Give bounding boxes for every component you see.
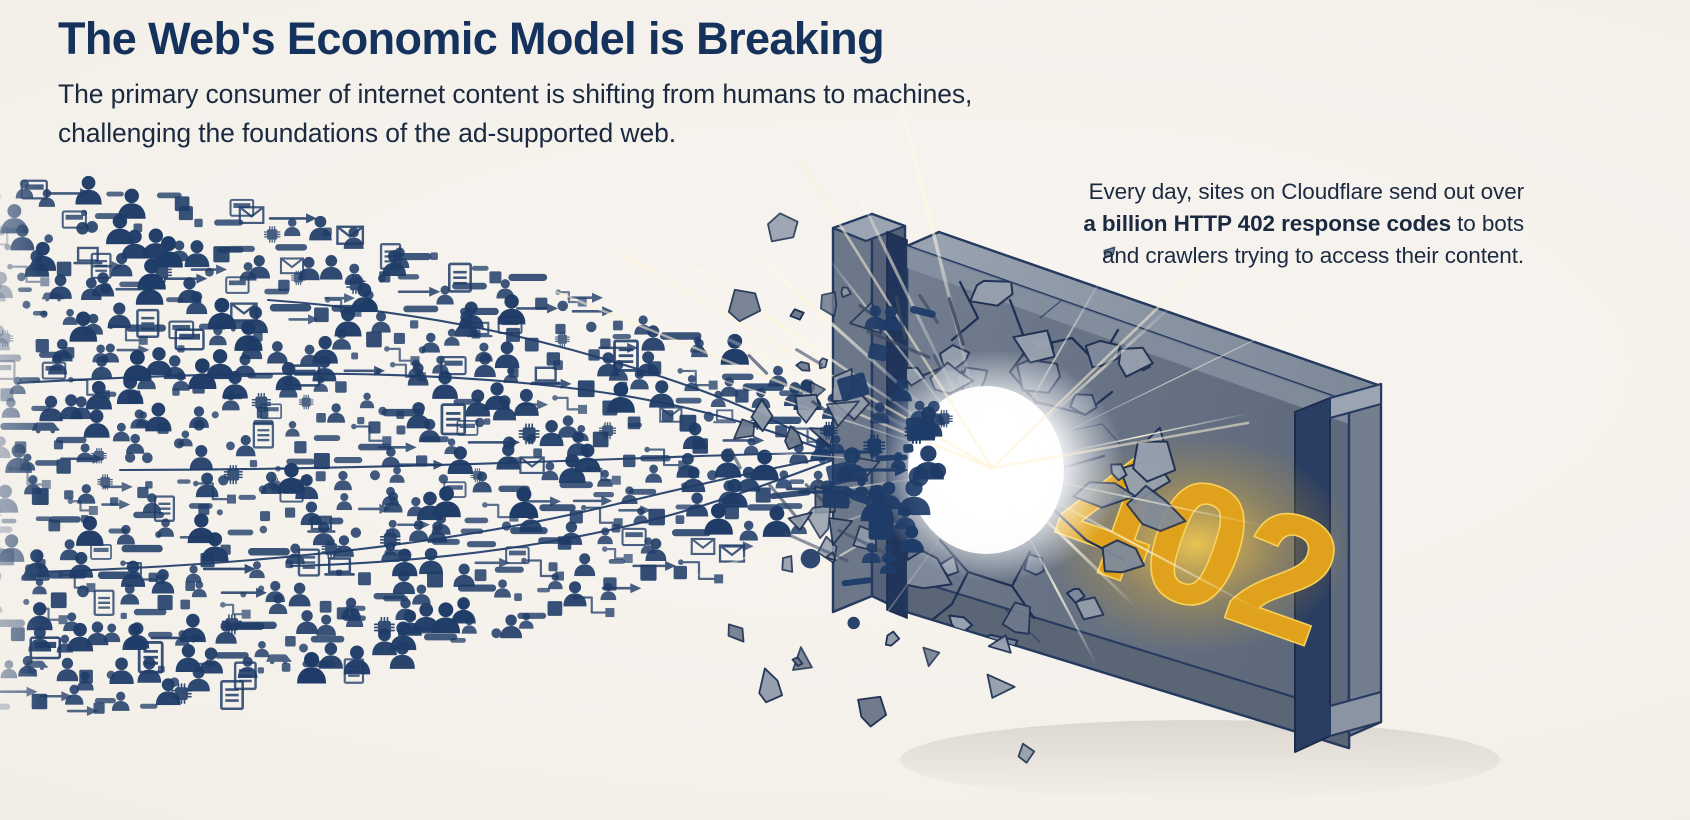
dash-icon bbox=[467, 542, 495, 547]
person-icon bbox=[476, 343, 493, 361]
debris-fragment bbox=[778, 553, 798, 574]
square-data-icon bbox=[548, 602, 562, 616]
square-data-icon bbox=[352, 353, 358, 359]
page-title: The Web's Economic Model is Breaking bbox=[58, 14, 1178, 64]
square-data-icon bbox=[367, 332, 382, 347]
person-icon bbox=[437, 286, 453, 304]
debris-fragment bbox=[789, 306, 806, 323]
person-icon bbox=[200, 648, 222, 673]
dash-icon bbox=[270, 305, 310, 311]
debris-fragment bbox=[723, 620, 749, 645]
person-icon bbox=[764, 507, 791, 536]
dash-icon bbox=[287, 459, 314, 464]
person-icon bbox=[328, 404, 345, 423]
annotation-emphasis: a billion HTTP 402 response codes bbox=[1083, 211, 1451, 236]
dash-icon bbox=[95, 699, 115, 703]
dot-icon bbox=[125, 453, 134, 462]
dot-icon bbox=[376, 369, 381, 374]
square-data-icon bbox=[369, 422, 380, 433]
person-icon bbox=[63, 309, 77, 324]
document-icon bbox=[95, 591, 114, 615]
chip-icon bbox=[519, 424, 538, 443]
person-icon bbox=[496, 342, 519, 367]
person-icon bbox=[286, 421, 300, 436]
square-data-icon bbox=[475, 570, 486, 581]
dash-icon bbox=[140, 704, 157, 708]
dash-icon bbox=[790, 480, 804, 484]
square-data-icon bbox=[158, 423, 168, 433]
dot-icon bbox=[476, 418, 485, 427]
square-data-icon bbox=[317, 413, 326, 422]
square-data-icon bbox=[641, 565, 656, 580]
dot-icon bbox=[170, 678, 178, 686]
annotation-line-3: and crawlers trying to access their cont… bbox=[994, 240, 1524, 272]
square-data-icon bbox=[549, 563, 557, 571]
dot-icon bbox=[227, 442, 235, 450]
document-icon bbox=[442, 405, 465, 434]
square-data-icon bbox=[63, 348, 73, 358]
square-data-icon bbox=[628, 417, 640, 429]
person-icon bbox=[108, 303, 130, 327]
person-icon bbox=[268, 342, 287, 363]
person-icon bbox=[138, 658, 160, 683]
dash-icon bbox=[178, 480, 191, 483]
dash-icon bbox=[451, 639, 466, 643]
person-icon bbox=[104, 624, 120, 642]
square-data-icon bbox=[94, 703, 104, 713]
person-icon bbox=[344, 228, 363, 249]
person-icon bbox=[181, 615, 205, 642]
square-data-icon bbox=[146, 482, 152, 488]
dash-icon bbox=[216, 653, 249, 659]
dash-icon bbox=[334, 458, 362, 463]
dot-icon bbox=[174, 439, 183, 448]
person-icon bbox=[598, 470, 613, 486]
dash-icon bbox=[249, 549, 290, 555]
square-data-icon bbox=[674, 566, 686, 578]
dash-icon bbox=[432, 539, 459, 544]
dash-icon bbox=[236, 622, 277, 628]
square-data-icon bbox=[904, 444, 914, 452]
dot-icon bbox=[259, 586, 264, 591]
square-data-icon bbox=[316, 472, 325, 481]
envelope-icon bbox=[281, 258, 303, 273]
person-icon bbox=[575, 554, 595, 576]
annotation-line-1: Every day, sites on Cloudflare send out … bbox=[994, 176, 1524, 208]
square-data-icon bbox=[397, 426, 405, 434]
person-icon bbox=[297, 611, 318, 634]
square-data-icon bbox=[199, 504, 209, 514]
person-icon bbox=[413, 585, 430, 604]
square-data-icon bbox=[51, 593, 66, 608]
person-icon bbox=[317, 615, 335, 635]
square-data-icon bbox=[614, 321, 623, 330]
dot-icon bbox=[217, 510, 222, 515]
square-data-icon bbox=[286, 636, 296, 646]
person-icon bbox=[237, 436, 255, 456]
wall-chunk bbox=[964, 635, 1017, 680]
annotation-text: to bots bbox=[1451, 211, 1524, 236]
dot-icon bbox=[492, 629, 501, 638]
person-icon bbox=[285, 219, 300, 236]
person-icon bbox=[196, 473, 217, 497]
square-data-icon bbox=[619, 382, 626, 389]
square-data-icon bbox=[65, 491, 73, 499]
monitor-icon bbox=[91, 545, 111, 559]
dash-icon bbox=[472, 266, 488, 270]
square-data-icon bbox=[320, 601, 331, 612]
dash-icon bbox=[518, 613, 546, 618]
square-data-icon bbox=[736, 390, 748, 402]
document-icon bbox=[254, 423, 273, 447]
dot-icon bbox=[587, 322, 597, 332]
square-data-icon bbox=[80, 670, 93, 683]
dash-icon bbox=[495, 567, 523, 572]
person-icon bbox=[321, 256, 342, 279]
infographic-canvas: 402 bbox=[0, 0, 1690, 820]
dash-icon bbox=[120, 282, 141, 286]
square-data-icon bbox=[534, 449, 542, 457]
dash-icon bbox=[398, 275, 418, 279]
headline-block: The Web's Economic Model is Breaking The… bbox=[58, 14, 1178, 152]
person-icon bbox=[185, 241, 208, 267]
square-data-icon bbox=[431, 253, 438, 260]
dot-icon bbox=[848, 617, 859, 628]
person-icon bbox=[433, 487, 460, 517]
dash-icon bbox=[453, 283, 487, 289]
dash-icon bbox=[149, 632, 172, 637]
person-icon bbox=[190, 446, 212, 470]
dash-icon bbox=[465, 518, 488, 523]
crowd-icon-field bbox=[0, 176, 917, 716]
crowd-left-fade bbox=[0, 180, 40, 740]
square-data-icon bbox=[261, 512, 270, 521]
person-icon bbox=[113, 423, 129, 441]
square-data-icon bbox=[57, 262, 71, 276]
arrow-right-icon bbox=[399, 287, 440, 297]
person-icon bbox=[50, 275, 71, 298]
person-icon bbox=[289, 583, 310, 606]
square-data-icon bbox=[693, 439, 708, 454]
dot-icon bbox=[45, 235, 53, 243]
dash-icon bbox=[311, 636, 344, 642]
square-data-icon bbox=[314, 454, 329, 469]
person-icon bbox=[382, 448, 399, 467]
dot-icon bbox=[87, 222, 98, 233]
square-data-icon bbox=[149, 573, 157, 581]
cloudflare-402-annotation: Every day, sites on Cloudflare send out … bbox=[994, 176, 1524, 272]
person-icon bbox=[501, 615, 522, 638]
subtitle-line-2: challenging the foundations of the ad-su… bbox=[58, 114, 1178, 152]
person-icon bbox=[422, 333, 439, 352]
monitor-icon bbox=[622, 529, 645, 545]
arrow-right-icon bbox=[620, 505, 652, 515]
envelope-icon bbox=[520, 457, 543, 473]
person-icon bbox=[110, 658, 133, 683]
dash-icon bbox=[458, 585, 495, 591]
person-icon bbox=[495, 580, 511, 597]
dash-icon bbox=[540, 505, 575, 511]
dash-icon bbox=[122, 545, 162, 551]
square-data-icon bbox=[547, 353, 559, 365]
dash-icon bbox=[107, 192, 123, 196]
dot-icon bbox=[194, 420, 204, 430]
person-icon bbox=[433, 372, 457, 399]
person-icon bbox=[102, 344, 118, 362]
dot-icon bbox=[143, 453, 153, 463]
dash-icon bbox=[876, 455, 907, 461]
envelope-icon bbox=[692, 539, 715, 554]
person-icon bbox=[78, 485, 95, 504]
dot-icon bbox=[930, 463, 945, 478]
square-data-icon bbox=[411, 321, 418, 328]
square-data-icon bbox=[193, 382, 204, 393]
chip-icon bbox=[555, 332, 569, 346]
dash-icon bbox=[511, 528, 548, 534]
square-data-icon bbox=[394, 333, 404, 343]
laptop-icon bbox=[326, 559, 354, 575]
square-data-icon bbox=[593, 432, 608, 447]
person-icon bbox=[57, 658, 77, 680]
square-data-icon bbox=[138, 487, 148, 497]
dash-icon bbox=[421, 437, 448, 442]
laptop-icon bbox=[532, 368, 559, 383]
person-icon bbox=[117, 525, 134, 544]
square-data-icon bbox=[258, 668, 263, 673]
dash-icon bbox=[394, 254, 431, 260]
person-icon bbox=[335, 471, 352, 489]
dash-icon bbox=[309, 518, 343, 524]
square-data-icon bbox=[676, 516, 684, 524]
arrow-right-icon bbox=[476, 558, 510, 568]
page-subtitle: The primary consumer of internet content… bbox=[58, 75, 1178, 151]
square-data-icon bbox=[336, 382, 346, 392]
chip-icon bbox=[265, 227, 280, 242]
dash-icon bbox=[509, 274, 547, 280]
dash-icon bbox=[630, 489, 656, 494]
square-data-icon bbox=[57, 460, 70, 473]
square-data-icon bbox=[175, 197, 189, 211]
person-icon bbox=[77, 444, 93, 462]
square-data-icon bbox=[484, 419, 489, 424]
person-icon bbox=[561, 522, 581, 544]
square-data-icon bbox=[359, 573, 371, 585]
debris-fragment bbox=[923, 645, 941, 666]
debris-fragment bbox=[758, 668, 782, 703]
dot-icon bbox=[801, 549, 820, 568]
dash-icon bbox=[314, 436, 340, 441]
square-data-icon bbox=[121, 613, 126, 618]
person-icon bbox=[320, 643, 343, 668]
person-icon bbox=[497, 444, 519, 469]
person-icon bbox=[646, 465, 662, 482]
person-icon bbox=[360, 393, 373, 408]
square-data-icon bbox=[869, 520, 893, 540]
debris-fragment bbox=[762, 211, 800, 249]
dash-icon bbox=[609, 560, 624, 564]
debris-fragment bbox=[882, 630, 900, 649]
square-data-icon bbox=[428, 572, 443, 587]
square-data-icon bbox=[181, 600, 190, 609]
square-data-icon bbox=[282, 664, 290, 672]
square-data-icon bbox=[509, 368, 518, 377]
dash-icon bbox=[134, 609, 166, 614]
dash-icon bbox=[613, 335, 631, 339]
square-data-icon bbox=[472, 330, 480, 338]
annotation-text: Every day, sites on Cloudflare send out … bbox=[1089, 179, 1524, 204]
person-icon bbox=[121, 585, 139, 604]
document-icon bbox=[137, 310, 158, 337]
dot-icon bbox=[81, 210, 86, 215]
square-data-icon bbox=[295, 442, 306, 453]
dash-icon bbox=[228, 246, 255, 251]
square-data-icon bbox=[178, 346, 184, 352]
square-data-icon bbox=[221, 545, 230, 554]
square-data-icon bbox=[195, 219, 202, 226]
person-icon bbox=[255, 641, 269, 656]
dash-icon bbox=[49, 572, 86, 578]
dot-icon bbox=[212, 412, 218, 418]
dash-icon bbox=[276, 245, 307, 250]
square-data-icon bbox=[158, 595, 172, 609]
dash-icon bbox=[676, 398, 701, 403]
square-data-icon bbox=[279, 280, 289, 290]
square-data-icon bbox=[250, 460, 256, 466]
dot-icon bbox=[351, 528, 361, 538]
dash-icon bbox=[385, 550, 409, 555]
person-icon bbox=[372, 312, 390, 332]
person-icon bbox=[299, 257, 319, 279]
square-data-icon bbox=[254, 333, 263, 342]
square-data-icon bbox=[285, 508, 294, 517]
dot-icon bbox=[78, 586, 89, 597]
dash-icon bbox=[594, 492, 614, 496]
dash-icon bbox=[228, 530, 253, 535]
dash-icon bbox=[537, 588, 549, 591]
node-link-icon bbox=[552, 395, 587, 414]
chip-icon bbox=[299, 395, 312, 408]
person-icon bbox=[515, 390, 538, 416]
person-icon bbox=[186, 566, 201, 583]
person-icon bbox=[238, 657, 256, 677]
dash-icon bbox=[722, 374, 753, 379]
debris-fragment bbox=[979, 673, 1015, 705]
car-icon bbox=[266, 654, 291, 664]
dot-icon bbox=[300, 644, 308, 652]
dash-icon bbox=[404, 306, 438, 312]
subtitle-line-1: The primary consumer of internet content… bbox=[58, 75, 1178, 113]
dash-icon bbox=[461, 308, 499, 314]
person-icon bbox=[740, 521, 757, 540]
document-icon bbox=[221, 681, 242, 708]
dash-icon bbox=[215, 220, 243, 225]
square-data-icon bbox=[515, 594, 522, 601]
dot-icon bbox=[370, 471, 379, 480]
person-icon bbox=[337, 493, 352, 509]
person-icon bbox=[77, 517, 103, 546]
square-data-icon bbox=[397, 411, 404, 418]
person-icon bbox=[564, 582, 586, 606]
dash-icon bbox=[56, 437, 86, 442]
square-data-icon bbox=[725, 506, 738, 519]
dot-icon bbox=[241, 592, 246, 597]
square-data-icon bbox=[358, 418, 364, 424]
person-icon bbox=[76, 177, 101, 204]
square-data-icon bbox=[623, 455, 634, 466]
wall-ground-shadow bbox=[900, 720, 1500, 800]
square-data-icon bbox=[315, 308, 329, 322]
square-data-icon bbox=[868, 343, 888, 361]
dot-icon bbox=[558, 301, 568, 311]
annotation-line-2: a billion HTTP 402 response codes to bot… bbox=[994, 208, 1524, 240]
debris-fragment bbox=[856, 695, 887, 727]
person-icon bbox=[420, 549, 443, 574]
dash-icon bbox=[50, 517, 81, 522]
square-data-icon bbox=[186, 582, 195, 591]
dash-icon bbox=[239, 495, 256, 499]
person-icon bbox=[385, 520, 400, 536]
person-icon bbox=[390, 467, 404, 483]
square-data-icon bbox=[158, 666, 164, 672]
dash-icon bbox=[254, 420, 274, 424]
dot-icon bbox=[260, 526, 267, 533]
dot-icon bbox=[378, 275, 385, 282]
dash-icon bbox=[402, 627, 435, 633]
person-icon bbox=[454, 564, 474, 586]
dash-icon bbox=[127, 325, 166, 331]
square-data-icon bbox=[490, 272, 501, 283]
arrow-right-icon bbox=[574, 496, 612, 506]
annotation-text: and crawlers trying to access their cont… bbox=[1102, 243, 1524, 268]
